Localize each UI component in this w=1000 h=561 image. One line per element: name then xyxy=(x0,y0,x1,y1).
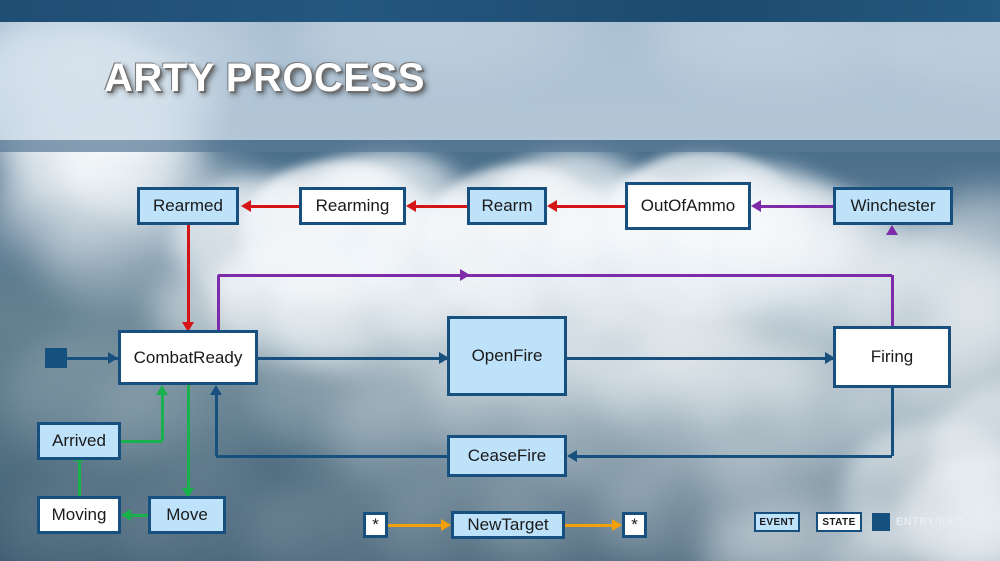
edge-arrived-to-combatready-horiz xyxy=(121,440,162,443)
legend-event-chip: EVENT xyxy=(754,512,800,532)
edge-winchester-to-outofammo xyxy=(758,205,833,208)
node-moving[interactable]: Moving xyxy=(37,496,121,534)
arrowhead-newtarget-to-star xyxy=(612,519,622,531)
edge-ceasefire-to-combatready-horiz xyxy=(216,455,447,458)
header-top-strip xyxy=(0,0,1000,22)
edge-firing-to-ceasefire-vert xyxy=(891,388,894,456)
arrowhead-firing-to-combatready xyxy=(460,269,470,281)
edge-outofammo-to-rearm xyxy=(553,205,625,208)
node-rearmed[interactable]: Rearmed xyxy=(137,187,239,225)
arrowhead-star-to-newtarget xyxy=(441,519,451,531)
edge-rearm-to-rearming xyxy=(412,205,467,208)
node-rearming[interactable]: Rearming xyxy=(299,187,406,225)
node-rearm[interactable]: Rearm xyxy=(467,187,547,225)
node-arrived[interactable]: Arrived xyxy=(37,422,121,460)
entry-exit-marker xyxy=(45,348,67,368)
arrowhead-firing-to-ceasefire xyxy=(567,450,577,462)
arrowhead-winchester-to-outofammo xyxy=(751,200,761,212)
slide-canvas: ARTY PROCESS RearmedRearmingRearmOutOfAm… xyxy=(0,0,1000,561)
node-newtarget[interactable]: NewTarget xyxy=(451,511,565,539)
node-move[interactable]: Move xyxy=(148,496,226,534)
edge-combatready-to-move xyxy=(187,385,190,488)
edge-firing-to-winchester-vert xyxy=(891,275,894,326)
edge-firing-to-combatready-vert xyxy=(217,275,220,330)
node-outofammo[interactable]: OutOfAmmo xyxy=(625,182,751,230)
arrowhead-firing-to-winchester xyxy=(886,225,898,235)
edge-combatready-to-openfire xyxy=(258,357,447,360)
edge-ceasefire-to-combatready-vert xyxy=(215,394,218,456)
node-star-left[interactable]: * xyxy=(363,512,388,538)
legend-entry-exit-label: ENTRY/EXIT xyxy=(896,516,964,528)
arrowhead-ceasefire-to-combatready xyxy=(210,385,222,395)
arrowhead-arrived-to-combatready xyxy=(156,385,168,395)
edge-rearmed-to-combatready xyxy=(187,225,190,322)
page-title: ARTY PROCESS xyxy=(104,56,425,101)
edge-arrived-to-combatready-vert xyxy=(161,394,164,441)
edge-move-to-moving xyxy=(131,514,148,517)
edge-newtarget-to-star xyxy=(565,524,613,527)
edge-moving-to-arrived xyxy=(78,460,81,496)
arrowhead-entry-to-combatready xyxy=(108,352,118,364)
edge-star-to-newtarget xyxy=(388,524,442,527)
legend-state-chip: STATE xyxy=(816,512,862,532)
header-band-divider xyxy=(0,140,1000,152)
edge-firing-to-combatready-horiz xyxy=(218,274,892,277)
node-openfire[interactable]: OpenFire xyxy=(447,316,567,396)
edge-openfire-to-firing xyxy=(567,357,833,360)
node-firing[interactable]: Firing xyxy=(833,326,951,388)
legend-entry-exit-square xyxy=(872,513,890,531)
node-winchester[interactable]: Winchester xyxy=(833,187,953,225)
arrowhead-rearming-to-rearmed xyxy=(241,200,251,212)
node-star-right[interactable]: * xyxy=(622,512,647,538)
edge-firing-to-ceasefire-horiz xyxy=(573,455,892,458)
arrowhead-outofammo-to-rearm xyxy=(547,200,557,212)
arrowhead-rearm-to-rearming xyxy=(406,200,416,212)
edge-rearming-to-rearmed xyxy=(247,205,299,208)
node-combatready[interactable]: CombatReady xyxy=(118,330,258,385)
node-ceasefire[interactable]: CeaseFire xyxy=(447,435,567,477)
arrowhead-move-to-moving xyxy=(121,509,131,521)
